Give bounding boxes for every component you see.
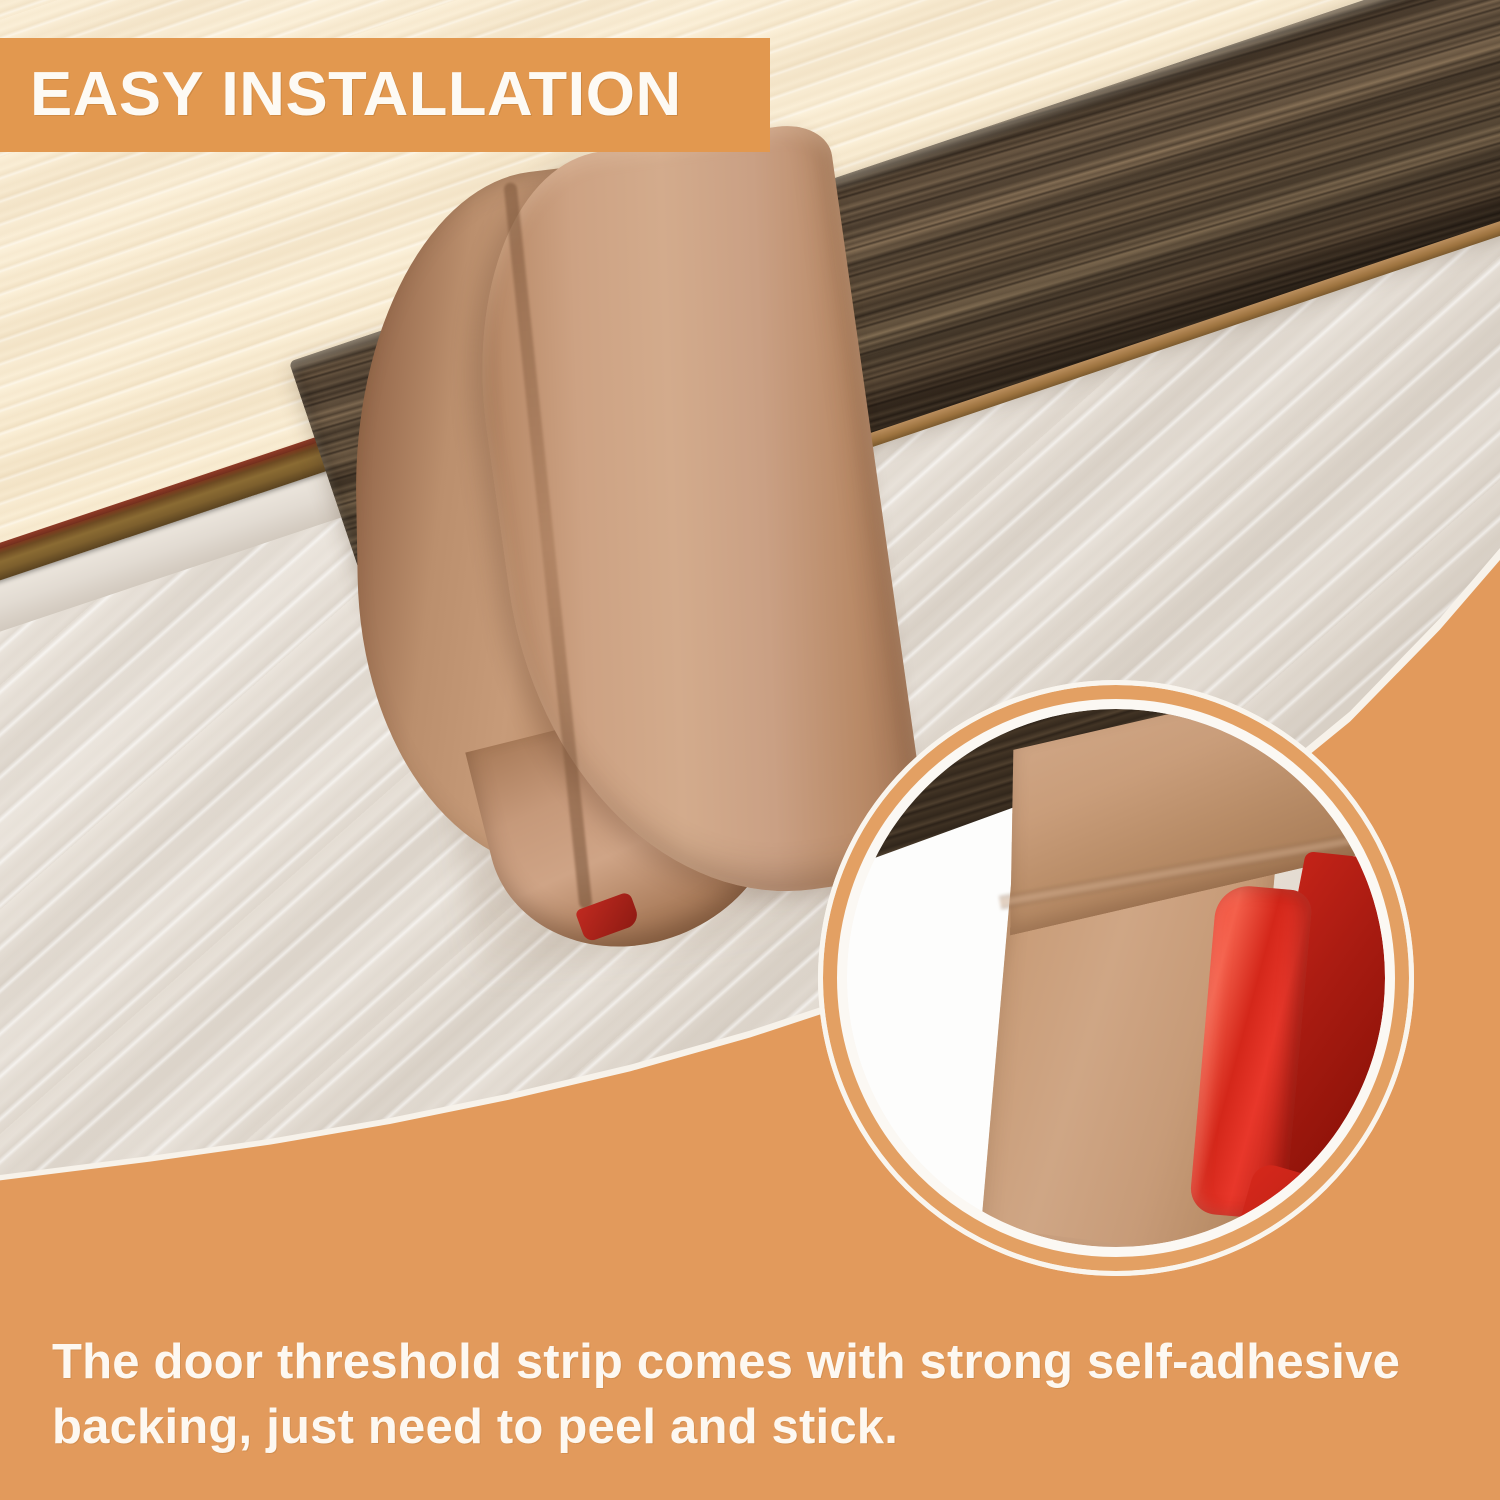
header-banner: EASY INSTALLATION — [0, 38, 770, 152]
detail-inset-circle — [818, 680, 1414, 1276]
banner-title: EASY INSTALLATION — [30, 64, 682, 126]
caption-text: The door threshold strip comes with stro… — [52, 1330, 1472, 1459]
inset-outer-white-ring — [818, 680, 1414, 1276]
product-infographic: EASY INSTALLATION The door threshold str… — [0, 0, 1500, 1500]
